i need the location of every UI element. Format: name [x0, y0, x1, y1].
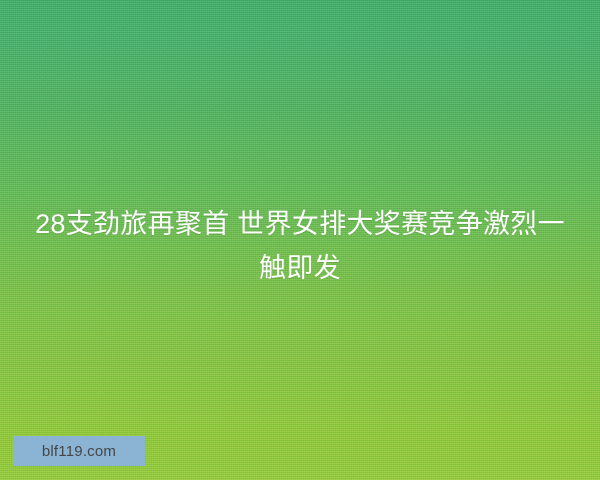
- poster-image: 28支劲旅再聚首 世界女排大奖赛竞争激烈一触即发 blf119.com: [0, 0, 600, 480]
- watermark-label: blf119.com: [42, 444, 116, 459]
- headline-text: 28支劲旅再聚首 世界女排大奖赛竞争激烈一触即发: [30, 202, 570, 290]
- watermark-badge: blf119.com: [13, 436, 145, 466]
